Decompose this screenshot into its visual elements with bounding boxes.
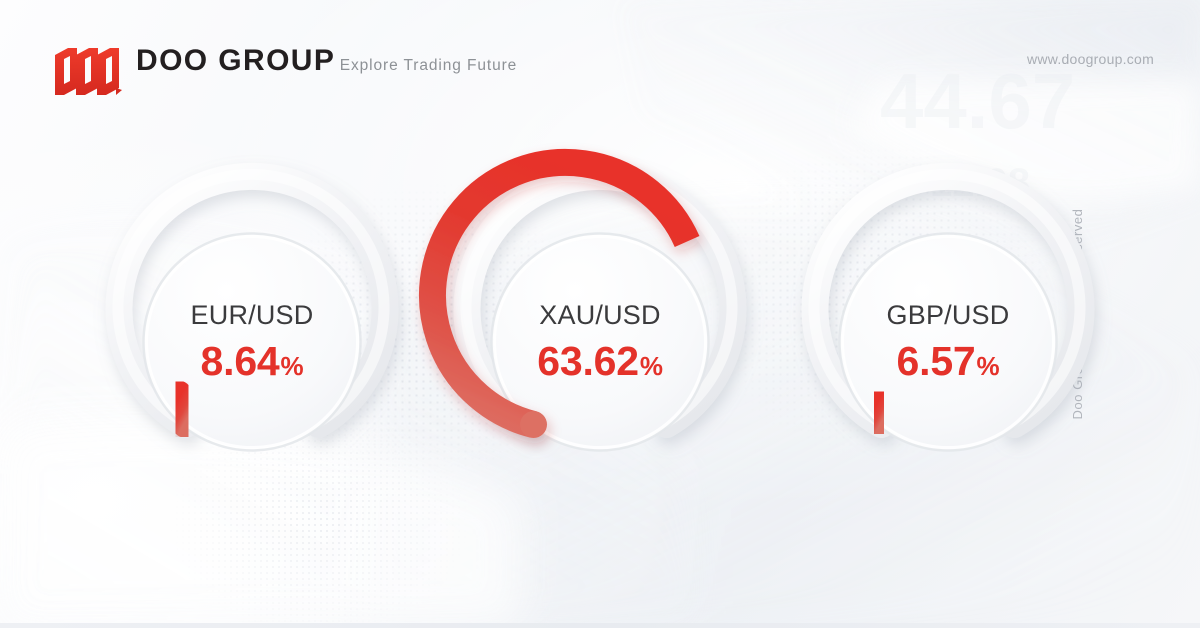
- header: DOO GROUP Explore Trading Future www.doo…: [0, 0, 1200, 128]
- gauge-eurusd[interactable]: EUR/USD 8.64%: [99, 196, 405, 486]
- gauge-gbpusd[interactable]: GBP/USD 6.57%: [795, 196, 1101, 486]
- gauge-xauusd-readout: XAU/USD 63.62%: [447, 196, 753, 486]
- site-url[interactable]: www.doogroup.com: [1027, 51, 1154, 67]
- brand-title: DOO GROUP: [136, 44, 335, 77]
- doo-logo-mark: [52, 44, 122, 105]
- gauge-xauusd-number: 63.62: [537, 341, 639, 382]
- brand-wordmark: DOO GROUP Explore Trading Future: [136, 44, 517, 76]
- gauge-gbpusd-readout: GBP/USD 6.57%: [795, 196, 1101, 486]
- brand-logo[interactable]: DOO GROUP Explore Trading Future: [52, 44, 517, 105]
- gauge-eurusd-value: 8.64%: [201, 341, 304, 382]
- infographic-canvas: 44.67 12.08: [0, 0, 1200, 628]
- gauge-eurusd-label: EUR/USD: [191, 302, 314, 329]
- gauge-gbpusd-value: 6.57%: [897, 341, 1000, 382]
- gauge-eurusd-number: 8.64: [201, 341, 280, 382]
- gauge-xauusd-percent-sign: %: [640, 353, 663, 379]
- gauge-gbpusd-label: GBP/USD: [887, 302, 1010, 329]
- bottom-divider: [0, 623, 1200, 628]
- gauge-xauusd[interactable]: XAU/USD 63.62%: [447, 196, 753, 486]
- brand-tagline: Explore Trading Future: [340, 57, 517, 74]
- gauge-eurusd-percent-sign: %: [281, 353, 304, 379]
- gauge-xauusd-label: XAU/USD: [539, 302, 660, 329]
- gauge-group: EUR/USD 8.64%: [0, 196, 1200, 486]
- gauge-gbpusd-number: 6.57: [897, 341, 976, 382]
- gauge-xauusd-value: 63.62%: [537, 341, 663, 382]
- gauge-gbpusd-percent-sign: %: [977, 353, 1000, 379]
- gauge-eurusd-readout: EUR/USD 8.64%: [99, 196, 405, 486]
